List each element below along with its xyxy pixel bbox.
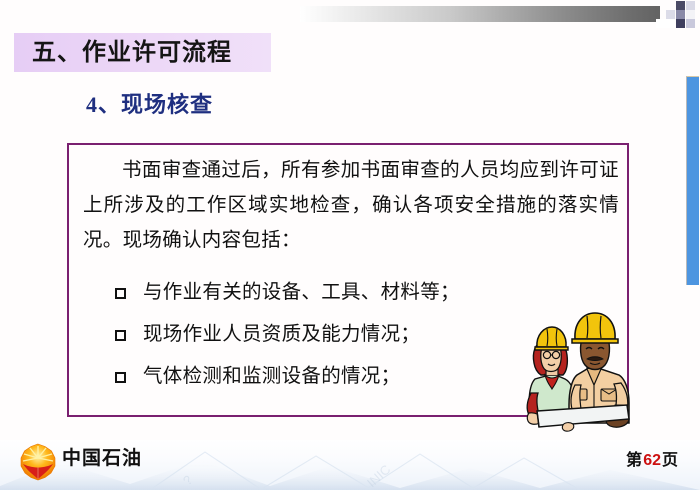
two-workers-with-blueprint-illustration: [505, 305, 665, 433]
page-number: 第62页: [626, 453, 678, 469]
list-item-label: 与作业有关的设备、工具、材料等；: [143, 283, 460, 303]
slide-title-banner: 五、作业许可流程: [14, 33, 271, 72]
square-bullet-icon: [115, 330, 126, 341]
brand-name: 中国石油: [62, 449, 142, 468]
square-bullet-icon: [115, 372, 126, 383]
slide-canvas: 五、作业许可流程 4、现场核查 书面审查通过后，所有参加书面审查的人员均应到许可…: [0, 0, 700, 490]
square-bullet-icon: [115, 288, 126, 299]
page-title: 五、作业许可流程: [14, 41, 232, 65]
right-accent-bar: [686, 76, 699, 285]
page-suffix: 页: [662, 452, 678, 469]
checkered-squares-decoration: [656, 0, 700, 30]
list-item-label: 气体检测和监测设备的情况；: [143, 367, 400, 387]
section-subtitle: 4、现场核查: [86, 94, 213, 116]
top-gradient-decoration: [300, 6, 660, 22]
page-number-value: 62: [642, 452, 662, 469]
list-item-label: 现场作业人员资质及能力情况；: [143, 325, 420, 345]
page-prefix: 第: [626, 452, 642, 469]
petrochina-sun-logo-icon: [19, 443, 57, 481]
body-paragraph: 书面审查通过后，所有参加书面审查的人员均应到许可证上所涉及的工作区域实地检查，确…: [83, 153, 619, 258]
